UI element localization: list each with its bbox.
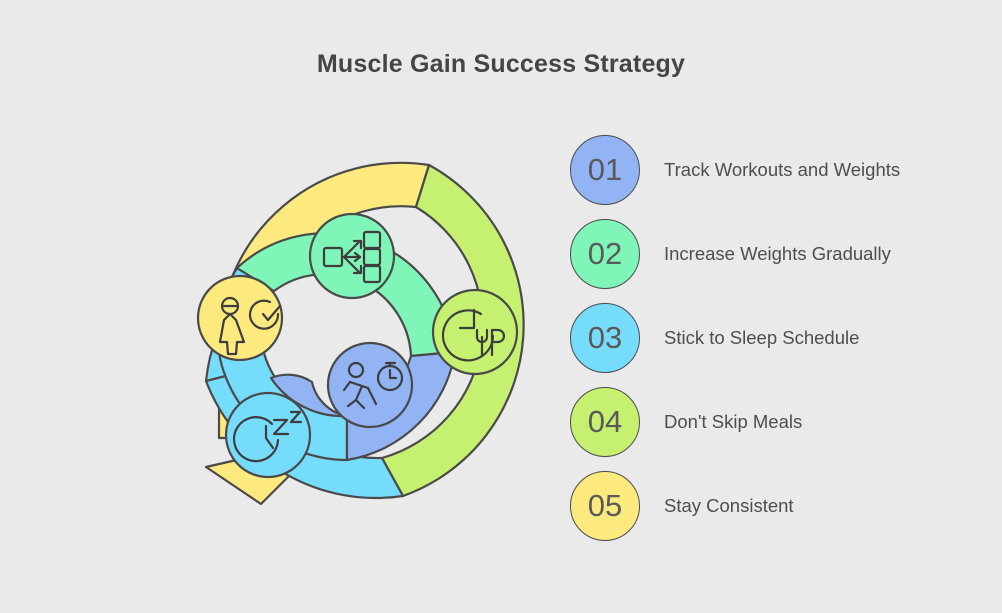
- legend-item-02[interactable]: 02 Increase Weights Gradually: [570, 212, 980, 296]
- spiral-diagram: [90, 120, 560, 540]
- node-03-bubble: [226, 393, 310, 477]
- legend-badge-02: 02: [570, 219, 640, 289]
- legend-label-03: Stick to Sleep Schedule: [664, 326, 859, 351]
- legend-item-05[interactable]: 05 Stay Consistent: [570, 464, 980, 548]
- legend-item-01[interactable]: 01 Track Workouts and Weights: [570, 128, 980, 212]
- legend-item-04[interactable]: 04 Don't Skip Meals: [570, 380, 980, 464]
- legend-label-01: Track Workouts and Weights: [664, 158, 900, 183]
- legend-badge-03: 03: [570, 303, 640, 373]
- legend-label-04: Don't Skip Meals: [664, 410, 802, 435]
- spiral-svg: [90, 120, 560, 540]
- legend-label-02: Increase Weights Gradually: [664, 242, 891, 267]
- legend-badge-05: 05: [570, 471, 640, 541]
- legend-item-03[interactable]: 03 Stick to Sleep Schedule: [570, 296, 980, 380]
- legend-label-05: Stay Consistent: [664, 494, 794, 519]
- node-04-bubble: [433, 290, 517, 374]
- legend-badge-04: 04: [570, 387, 640, 457]
- legend-list: 01 Track Workouts and Weights 02 Increas…: [570, 128, 980, 548]
- page-title: Muscle Gain Success Strategy: [0, 50, 1002, 79]
- legend-badge-01: 01: [570, 135, 640, 205]
